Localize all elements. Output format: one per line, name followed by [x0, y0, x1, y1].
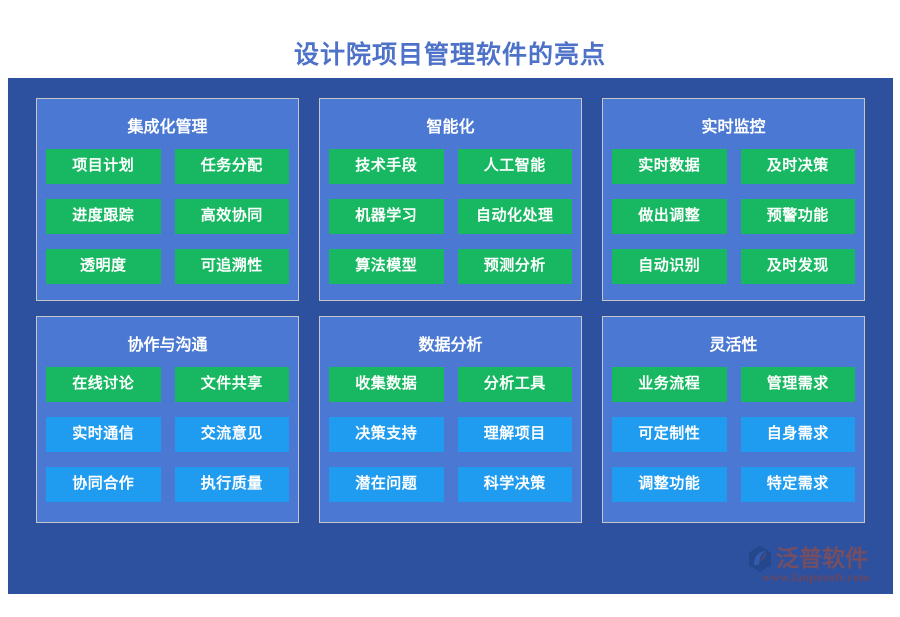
logo-name: 泛普软件 [776, 546, 868, 572]
feature-tag[interactable]: 可追溯性 [175, 249, 290, 284]
tag-row: 技术手段人工智能 [329, 149, 572, 184]
feature-tag[interactable]: 预警功能 [741, 199, 856, 234]
feature-tag[interactable]: 及时决策 [741, 149, 856, 184]
tag-row: 在线讨论文件共享 [46, 367, 289, 402]
feature-tag[interactable]: 协同合作 [46, 467, 161, 502]
feature-tag[interactable]: 交流意见 [175, 417, 290, 452]
feature-card: 灵活性业务流程管理需求可定制性自身需求调整功能特定需求 [602, 316, 865, 523]
feature-tag[interactable]: 技术手段 [329, 149, 444, 184]
feature-tag[interactable]: 及时发现 [741, 249, 856, 284]
feature-card: 集成化管理项目计划任务分配进度跟踪高效协同透明度可追溯性 [36, 98, 299, 301]
cards-grid: 集成化管理项目计划任务分配进度跟踪高效协同透明度可追溯性智能化技术手段人工智能机… [36, 98, 866, 523]
feature-tag[interactable]: 进度跟踪 [46, 199, 161, 234]
card-title: 灵活性 [612, 325, 855, 367]
tag-row: 做出调整预警功能 [612, 199, 855, 234]
brand-watermark: 泛普软件 www.fanpusoft.com [747, 546, 885, 584]
logo-row: 泛普软件 [747, 546, 885, 572]
tag-rows: 在线讨论文件共享实时通信交流意见协同合作执行质量 [46, 367, 289, 502]
feature-tag[interactable]: 管理需求 [741, 367, 856, 402]
card-title: 智能化 [329, 107, 572, 149]
feature-tag[interactable]: 调整功能 [612, 467, 727, 502]
feature-tag[interactable]: 透明度 [46, 249, 161, 284]
tag-rows: 项目计划任务分配进度跟踪高效协同透明度可追溯性 [46, 149, 289, 284]
card-title: 实时监控 [612, 107, 855, 149]
feature-card: 智能化技术手段人工智能机器学习自动化处理算法模型预测分析 [319, 98, 582, 301]
tag-row: 调整功能特定需求 [612, 467, 855, 502]
tag-row: 自动识别及时发现 [612, 249, 855, 284]
tag-row: 算法模型预测分析 [329, 249, 572, 284]
tag-row: 协同合作执行质量 [46, 467, 289, 502]
feature-tag[interactable]: 实时数据 [612, 149, 727, 184]
feature-tag[interactable]: 人工智能 [458, 149, 573, 184]
tag-row: 透明度可追溯性 [46, 249, 289, 284]
feature-tag[interactable]: 算法模型 [329, 249, 444, 284]
feature-tag[interactable]: 机器学习 [329, 199, 444, 234]
logo-url: www.fanpusoft.com [747, 572, 885, 584]
feature-tag[interactable]: 可定制性 [612, 417, 727, 452]
feature-card: 数据分析收集数据分析工具决策支持理解项目潜在问题科学决策 [319, 316, 582, 523]
tag-rows: 收集数据分析工具决策支持理解项目潜在问题科学决策 [329, 367, 572, 502]
feature-tag[interactable]: 预测分析 [458, 249, 573, 284]
sail-logo-icon [747, 546, 773, 572]
tag-row: 机器学习自动化处理 [329, 199, 572, 234]
tag-row: 收集数据分析工具 [329, 367, 572, 402]
highlights-panel: 集成化管理项目计划任务分配进度跟踪高效协同透明度可追溯性智能化技术手段人工智能机… [8, 78, 893, 594]
card-title: 协作与沟通 [46, 325, 289, 367]
feature-tag[interactable]: 业务流程 [612, 367, 727, 402]
feature-tag[interactable]: 做出调整 [612, 199, 727, 234]
feature-tag[interactable]: 决策支持 [329, 417, 444, 452]
tag-row: 实时数据及时决策 [612, 149, 855, 184]
feature-tag[interactable]: 实时通信 [46, 417, 161, 452]
tag-row: 进度跟踪高效协同 [46, 199, 289, 234]
tag-row: 可定制性自身需求 [612, 417, 855, 452]
tag-row: 潜在问题科学决策 [329, 467, 572, 502]
feature-tag[interactable]: 项目计划 [46, 149, 161, 184]
tag-row: 业务流程管理需求 [612, 367, 855, 402]
card-title: 数据分析 [329, 325, 572, 367]
tag-rows: 业务流程管理需求可定制性自身需求调整功能特定需求 [612, 367, 855, 502]
feature-card: 协作与沟通在线讨论文件共享实时通信交流意见协同合作执行质量 [36, 316, 299, 523]
feature-tag[interactable]: 分析工具 [458, 367, 573, 402]
tag-row: 实时通信交流意见 [46, 417, 289, 452]
tag-rows: 实时数据及时决策做出调整预警功能自动识别及时发现 [612, 149, 855, 284]
feature-tag[interactable]: 收集数据 [329, 367, 444, 402]
feature-tag[interactable]: 潜在问题 [329, 467, 444, 502]
feature-tag[interactable]: 任务分配 [175, 149, 290, 184]
feature-tag[interactable]: 文件共享 [175, 367, 290, 402]
feature-tag[interactable]: 高效协同 [175, 199, 290, 234]
feature-tag[interactable]: 在线讨论 [46, 367, 161, 402]
feature-tag[interactable]: 特定需求 [741, 467, 856, 502]
feature-tag[interactable]: 理解项目 [458, 417, 573, 452]
feature-tag[interactable]: 自动识别 [612, 249, 727, 284]
tag-row: 项目计划任务分配 [46, 149, 289, 184]
tag-rows: 技术手段人工智能机器学习自动化处理算法模型预测分析 [329, 149, 572, 284]
tag-row: 决策支持理解项目 [329, 417, 572, 452]
feature-card: 实时监控实时数据及时决策做出调整预警功能自动识别及时发现 [602, 98, 865, 301]
feature-tag[interactable]: 执行质量 [175, 467, 290, 502]
card-title: 集成化管理 [46, 107, 289, 149]
feature-tag[interactable]: 自身需求 [741, 417, 856, 452]
feature-tag[interactable]: 自动化处理 [458, 199, 573, 234]
feature-tag[interactable]: 科学决策 [458, 467, 573, 502]
